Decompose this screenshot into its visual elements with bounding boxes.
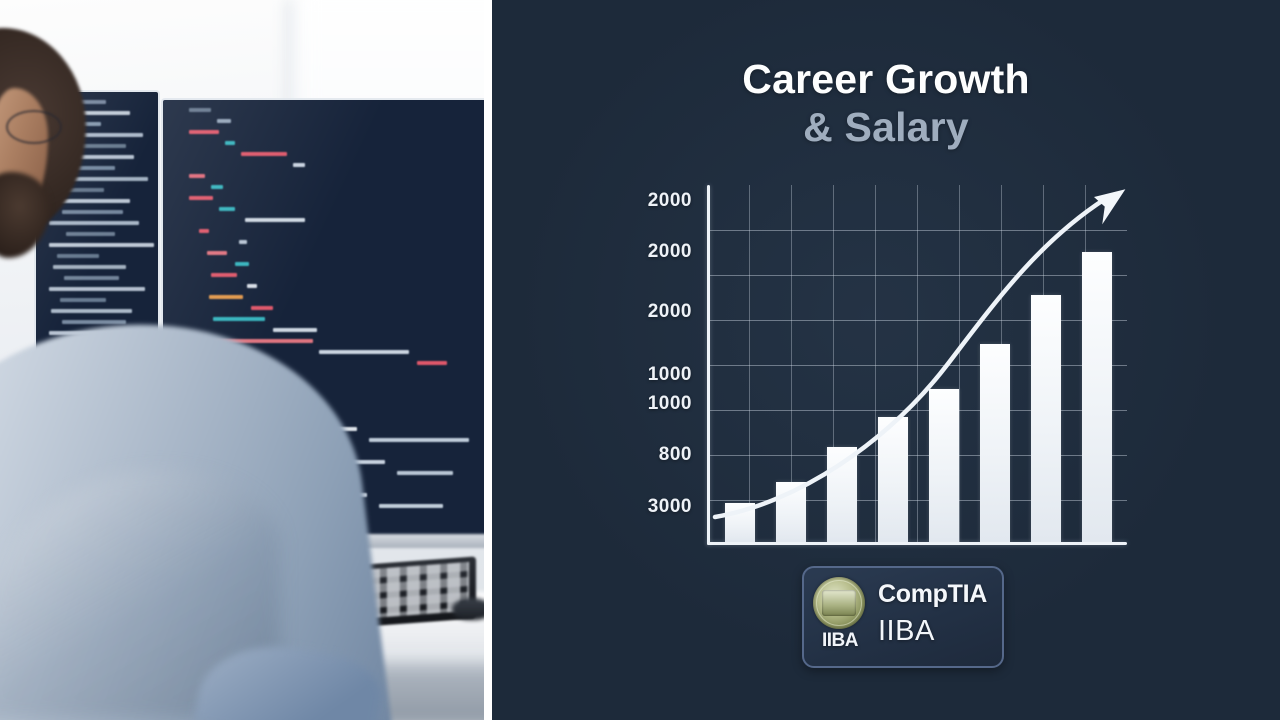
code-line <box>189 130 219 134</box>
code-line <box>219 207 235 211</box>
code-line <box>369 438 469 442</box>
code-line <box>51 309 132 313</box>
developer-photo-panel <box>0 0 487 720</box>
certification-badge[interactable]: IIBA CompTIA IIBA <box>802 566 1004 668</box>
code-line <box>293 163 305 167</box>
code-line <box>60 298 106 302</box>
y-axis-tick-label: 2000 <box>648 301 692 323</box>
code-line <box>53 265 126 269</box>
certification-seal-icon <box>813 577 865 629</box>
code-line <box>239 240 247 244</box>
x-axis-line <box>707 542 1127 545</box>
y-axis-tick-label: 1000 <box>648 393 692 415</box>
code-line <box>251 306 273 310</box>
code-line <box>247 284 257 288</box>
code-line <box>319 350 409 354</box>
plot-area <box>707 185 1127 545</box>
code-line <box>189 174 205 178</box>
title-line-2: & Salary <box>492 103 1280 151</box>
page-title: Career Growth & Salary <box>492 55 1280 152</box>
title-line-1: Career Growth <box>492 55 1280 103</box>
code-line <box>273 328 317 332</box>
code-line <box>209 295 243 299</box>
code-line <box>213 317 265 321</box>
code-line <box>397 471 453 475</box>
code-line <box>199 229 209 233</box>
code-line <box>62 320 126 324</box>
code-line <box>189 108 211 112</box>
code-line <box>64 276 119 280</box>
code-line <box>49 287 146 291</box>
code-line <box>417 361 447 365</box>
panel-divider <box>484 0 492 720</box>
y-axis-tick-label: 3000 <box>648 496 692 518</box>
code-line <box>207 251 227 255</box>
code-line <box>189 196 213 200</box>
code-line <box>211 273 237 277</box>
seal-label: IIBA <box>808 630 872 652</box>
code-line <box>49 243 155 247</box>
code-line <box>66 232 114 236</box>
trend-arrow-icon <box>707 185 1127 545</box>
code-line <box>225 141 235 145</box>
y-axis-labels: 200020002000100010008003000 <box>612 180 700 550</box>
code-line <box>211 185 223 189</box>
y-axis-tick-label: 2000 <box>648 190 692 212</box>
code-line <box>241 152 287 156</box>
mouse <box>452 598 487 620</box>
code-line <box>57 254 99 258</box>
y-axis-line <box>707 185 710 545</box>
badge-organization-name: IIBA <box>878 615 935 648</box>
code-line <box>49 221 139 225</box>
y-axis-tick-label: 1000 <box>648 364 692 386</box>
code-line <box>245 218 305 222</box>
seal-ring <box>816 580 862 626</box>
code-line <box>379 504 443 508</box>
glasses-icon <box>6 110 62 144</box>
chart-panel: Career Growth & Salary 20002000200010001… <box>492 0 1280 720</box>
code-line <box>62 210 124 214</box>
code-line <box>235 262 249 266</box>
growth-bar-chart: 200020002000100010008003000 <box>612 180 1172 560</box>
code-line <box>217 119 231 123</box>
y-axis-tick-label: 2000 <box>648 241 692 263</box>
screenshot-canvas: Career Growth & Salary 20002000200010001… <box>0 0 1280 720</box>
badge-certifier-name: CompTIA <box>878 580 987 609</box>
y-axis-tick-label: 800 <box>659 444 692 466</box>
